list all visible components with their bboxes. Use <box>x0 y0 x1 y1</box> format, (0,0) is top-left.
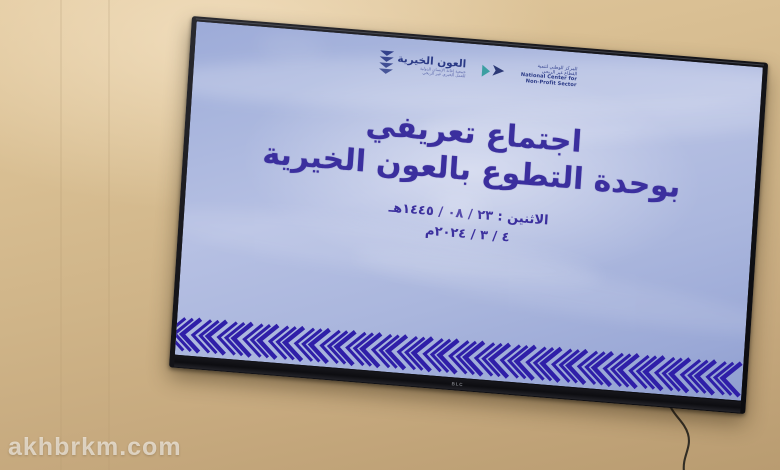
tv-bezel: العون الخيرية جمعية إغاثة الإنسان الدولي… <box>169 16 768 414</box>
arrow-separator-icon: ➤ <box>481 64 505 78</box>
logo-al-aoun-text: العون الخيرية جمعية إغاثة الإنسان الدولي… <box>397 53 467 78</box>
photograph: العون الخيرية جمعية إغاثة الإنسان الدولي… <box>0 0 780 470</box>
wall-seam <box>60 0 62 470</box>
television: العون الخيرية جمعية إغاثة الإنسان الدولي… <box>169 16 768 414</box>
logo-national-center-non-profit-sector: المركز الوطني لتنمية القطاع غير الربحي N… <box>520 63 577 89</box>
chevron-stack-icon <box>378 50 393 75</box>
wall-seam <box>108 0 110 470</box>
slide-date-block: الاثنين : ٢٣ / ٠٨ / ١٤٤٥هـ ٤ / ٣ / ٢٠٢٤م <box>387 199 549 251</box>
watermark: akhbrkm.com <box>8 433 182 462</box>
presentation-slide: العون الخيرية جمعية إغاثة الإنسان الدولي… <box>175 21 763 400</box>
tv-screen: العون الخيرية جمعية إغاثة الإنسان الدولي… <box>175 21 763 400</box>
slide-title-block: اجتماع تعريفي بوحدة التطوع بالعون الخيري… <box>178 67 760 359</box>
logo-al-aoun-al-khairiya: العون الخيرية جمعية إغاثة الإنسان الدولي… <box>378 50 466 81</box>
tv-brand-label: BLC <box>451 381 463 387</box>
